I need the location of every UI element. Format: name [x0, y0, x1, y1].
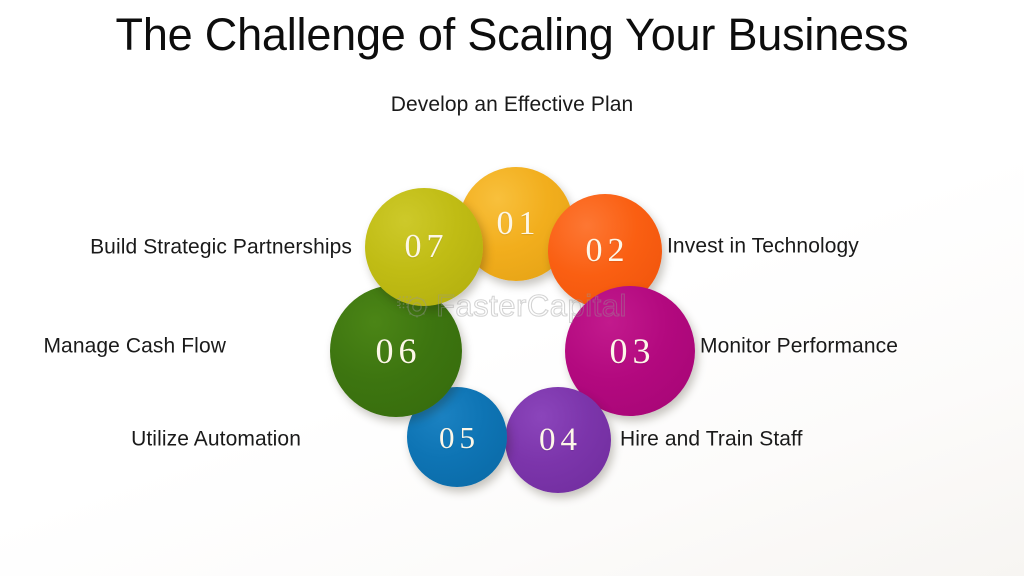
process-node-04[interactable]: 04	[505, 387, 611, 493]
process-node-06[interactable]: 06	[330, 285, 462, 417]
step-label-06: Manage Cash Flow	[43, 333, 226, 358]
circular-process-diagram: 01 02 03 04 05 06 07	[0, 0, 1024, 576]
process-node-02-number: 02	[581, 234, 630, 268]
step-label-04: Hire and Train Staff	[620, 426, 803, 451]
process-node-05-number: 05	[434, 422, 480, 453]
slide-canvas: The Challenge of Scaling Your Business D…	[0, 0, 1024, 576]
step-label-07: Build Strategic Partnerships	[90, 234, 352, 259]
process-node-07-number: 07	[400, 230, 449, 264]
step-label-02: Invest in Technology	[667, 233, 859, 258]
process-node-03-number: 03	[605, 333, 656, 369]
step-label-03: Monitor Performance	[700, 333, 898, 358]
process-node-06-number: 06	[371, 333, 422, 369]
process-node-04-number: 04	[534, 424, 582, 457]
process-node-07[interactable]: 07	[365, 188, 483, 306]
step-label-05: Utilize Automation	[131, 426, 301, 451]
process-node-01-number: 01	[492, 207, 541, 241]
